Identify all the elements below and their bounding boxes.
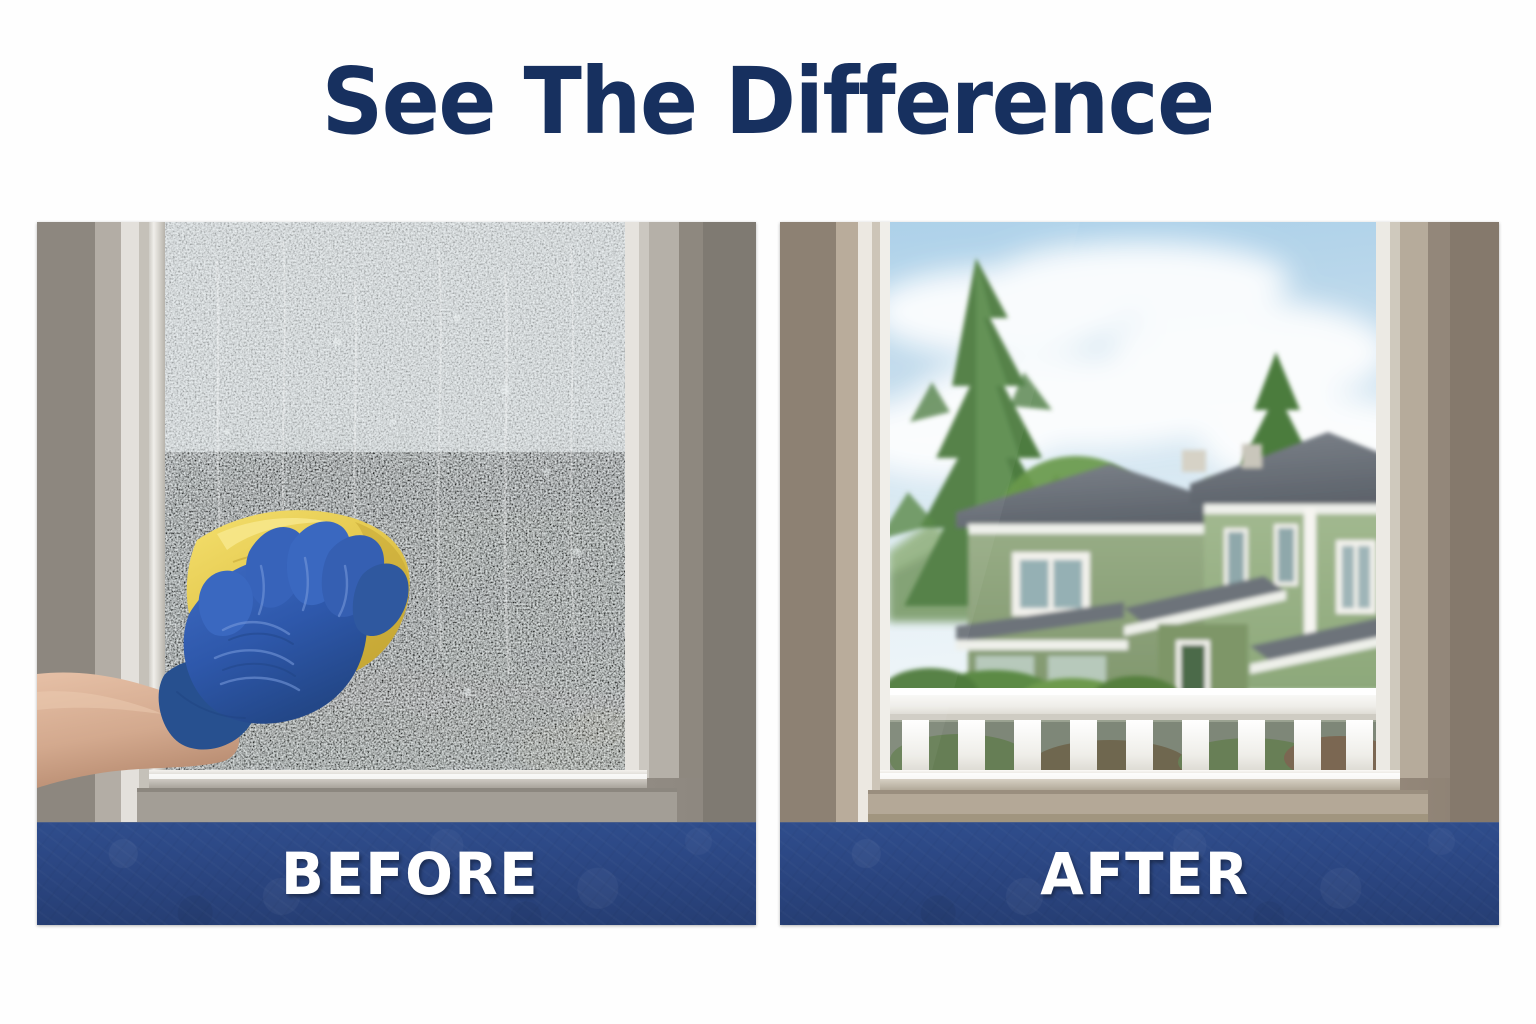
balcony-railing [888,688,1382,778]
after-illustration [780,222,1499,822]
after-photo [780,222,1499,822]
page-title: See The Difference [322,54,1214,150]
after-caption-band: AFTER [780,822,1499,925]
before-caption-band: BEFORE [37,822,756,925]
before-label: BEFORE [281,845,539,903]
before-photo [37,222,756,822]
comparison-panels: BEFORE [37,222,1499,925]
after-panel[interactable]: AFTER [780,222,1499,925]
before-panel[interactable]: BEFORE [37,222,756,925]
after-label: AFTER [1040,845,1249,903]
poster-root: See The Difference [0,0,1536,1024]
page-title-container: See The Difference [0,54,1536,150]
before-illustration [37,222,756,822]
